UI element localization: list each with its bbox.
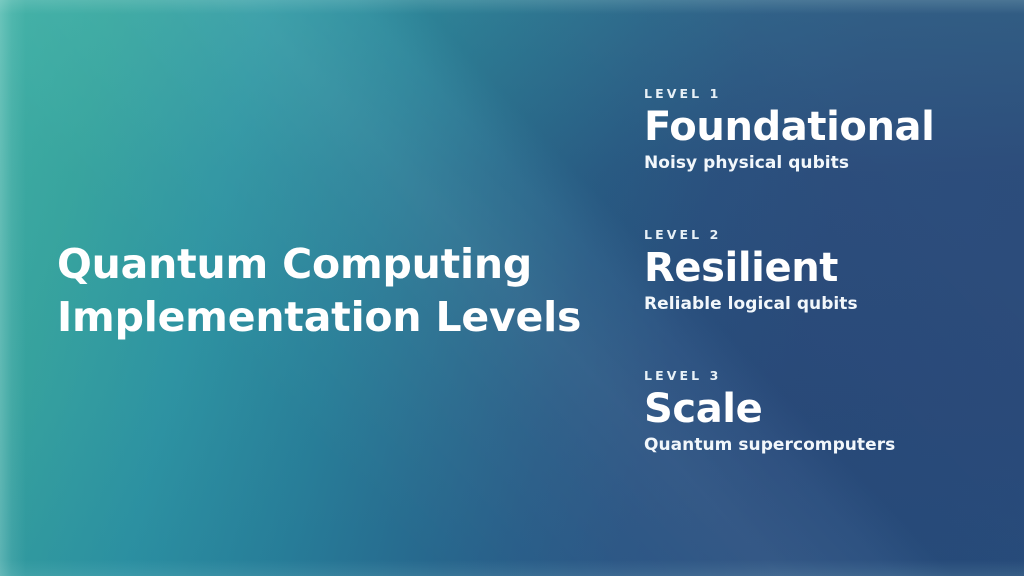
- level-item-3: LEVEL 3 Scale Quantum supercomputers: [644, 368, 984, 457]
- level-description: Quantum supercomputers: [644, 434, 984, 457]
- level-description: Reliable logical qubits: [644, 293, 984, 316]
- slide-canvas: Quantum Computing Implementation Levels …: [0, 0, 1024, 576]
- title-block: Quantum Computing Implementation Levels: [57, 238, 597, 344]
- level-name: Resilient: [644, 245, 984, 292]
- level-item-1: LEVEL 1 Foundational Noisy physical qubi…: [644, 86, 984, 175]
- level-kicker: LEVEL 2: [644, 227, 984, 243]
- level-kicker: LEVEL 3: [644, 368, 984, 384]
- level-item-2: LEVEL 2 Resilient Reliable logical qubit…: [644, 227, 984, 316]
- background-left-edge-glow: [0, 0, 26, 576]
- level-name: Foundational: [644, 104, 984, 151]
- level-name: Scale: [644, 386, 984, 433]
- background-top-edge-glow: [0, 0, 1024, 14]
- level-description: Noisy physical qubits: [644, 152, 984, 175]
- background-bottom-edge-glow: [0, 560, 1024, 576]
- level-kicker: LEVEL 1: [644, 86, 984, 102]
- levels-list: LEVEL 1 Foundational Noisy physical qubi…: [644, 86, 984, 457]
- page-title: Quantum Computing Implementation Levels: [57, 238, 597, 344]
